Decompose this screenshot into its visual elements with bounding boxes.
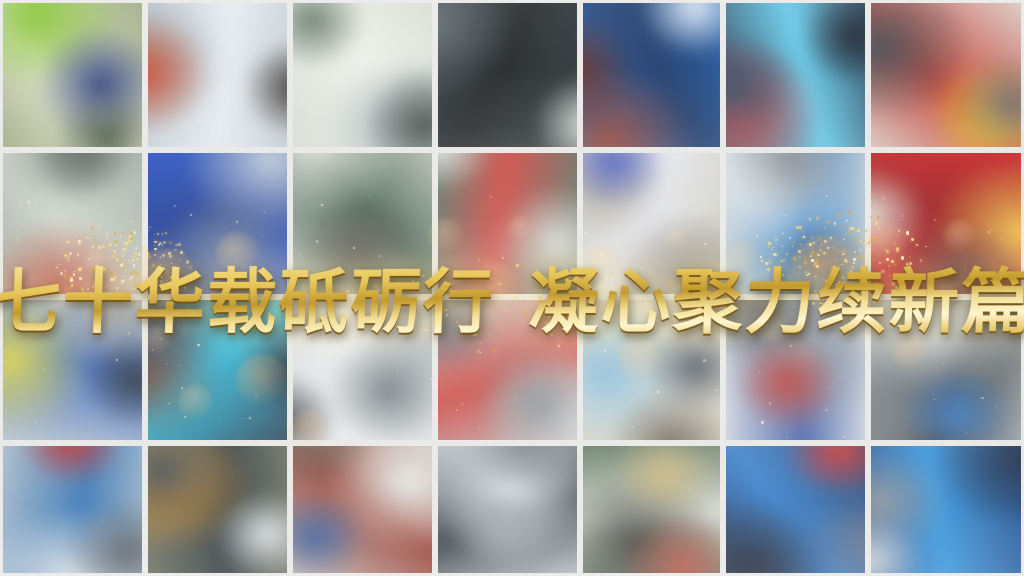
photo-thumbnail — [868, 443, 1024, 576]
photo-thumbnail — [145, 0, 290, 150]
photo-thumbnail — [145, 297, 290, 443]
photo-thumbnail — [723, 0, 868, 150]
photo-tile — [868, 297, 1024, 443]
photo-tile — [580, 150, 723, 297]
photo-tile — [290, 297, 435, 443]
photo-thumbnail — [0, 443, 145, 576]
photo-thumbnail — [580, 297, 723, 443]
photo-thumbnail — [290, 150, 435, 297]
photo-tile — [145, 0, 290, 150]
photo-tile — [0, 0, 145, 150]
photo-tile — [290, 0, 435, 150]
photo-thumbnail — [0, 150, 145, 297]
photo-tile — [145, 150, 290, 297]
photo-tile — [580, 0, 723, 150]
photo-tile — [0, 297, 145, 443]
photo-thumbnail — [435, 297, 580, 443]
photo-thumbnail — [290, 297, 435, 443]
photo-thumbnail — [145, 150, 290, 297]
photo-tile — [868, 150, 1024, 297]
photo-thumbnail — [580, 150, 723, 297]
photo-thumbnail — [435, 150, 580, 297]
photo-thumbnail — [435, 0, 580, 150]
photo-tile — [290, 443, 435, 576]
photo-thumbnail — [435, 443, 580, 576]
photo-tile — [580, 443, 723, 576]
photo-thumbnail — [723, 150, 868, 297]
photo-thumbnail — [290, 443, 435, 576]
photo-thumbnail — [723, 297, 868, 443]
photo-tile — [723, 443, 868, 576]
photo-thumbnail — [0, 297, 145, 443]
photo-mosaic-grid — [0, 0, 1024, 576]
photo-tile — [723, 0, 868, 150]
photo-thumbnail — [580, 0, 723, 150]
photo-thumbnail — [723, 443, 868, 576]
photo-thumbnail — [145, 443, 290, 576]
photo-tile — [580, 297, 723, 443]
photo-thumbnail — [0, 0, 145, 150]
photo-tile — [435, 297, 580, 443]
photo-tile — [435, 0, 580, 150]
photo-tile — [868, 443, 1024, 576]
photo-thumbnail — [868, 297, 1024, 443]
photo-tile — [435, 443, 580, 576]
photo-thumbnail — [290, 0, 435, 150]
photo-tile — [723, 297, 868, 443]
photo-tile — [435, 150, 580, 297]
photo-thumbnail — [868, 0, 1024, 150]
title-card-stage: 七十华载砥砺行凝心聚力续新篇 — [0, 0, 1024, 576]
photo-tile — [723, 150, 868, 297]
photo-thumbnail — [868, 150, 1024, 297]
photo-tile — [290, 150, 435, 297]
photo-tile — [145, 443, 290, 576]
photo-tile — [868, 0, 1024, 150]
photo-tile — [145, 297, 290, 443]
photo-tile — [0, 443, 145, 576]
photo-tile — [0, 150, 145, 297]
photo-thumbnail — [580, 443, 723, 576]
